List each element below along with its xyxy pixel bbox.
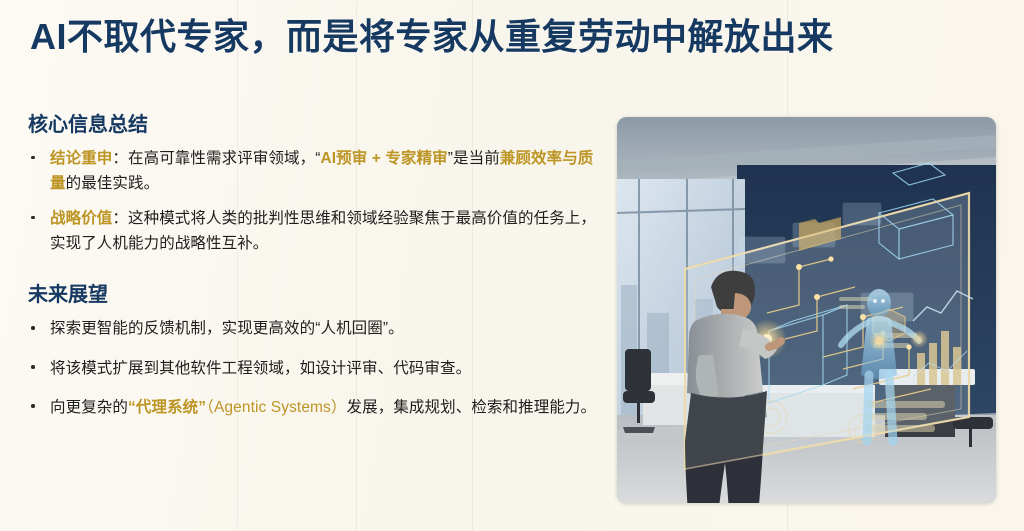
list-item: 将该模式扩展到其他软件工程领域，如设计评审、代码审查。 <box>28 356 598 381</box>
bullet-segment: （Agentic Systems） <box>206 399 346 416</box>
list-item: 向更复杂的“代理系统”（Agentic Systems）发展，集成规划、检索和推… <box>28 395 598 420</box>
illustration-graphic <box>617 117 996 503</box>
slide-title: AI不取代专家，而是将专家从重复劳动中解放出来 <box>30 14 990 60</box>
bullet-segment: AI预审 + 专家精审 <box>320 150 447 167</box>
bullet-dot-icon <box>31 365 35 369</box>
bullet-segment: ：在高可靠性需求评审领域，“ <box>112 150 320 167</box>
bullet-dot-icon <box>31 404 35 408</box>
bullet-segment: 的最佳实践。 <box>66 175 160 192</box>
illustration-ai-hologram-office <box>617 117 996 503</box>
bullet-segment: 发展，集成规划、检索和推理能力。 <box>347 399 597 416</box>
bullet-list: 探索更智能的反馈机制，实现更高效的“人机回圈”。 将该模式扩展到其他软件工程领域… <box>28 316 598 419</box>
bullet-segment: 结论重申 <box>50 150 112 167</box>
slide-canvas: AI不取代专家，而是将专家从重复劳动中解放出来 核心信息总结 结论重申：在高可靠… <box>0 0 1024 531</box>
section-heading: 核心信息总结 <box>28 112 598 138</box>
list-item: 探索更智能的反馈机制，实现更高效的“人机回圈”。 <box>28 316 598 341</box>
bullet-dot-icon <box>31 216 35 220</box>
section-heading: 未来展望 <box>28 282 598 308</box>
bullet-segment: ：这种模式将人类的批判性思维和领域经验聚焦于最高价值的任务上，实现了人机能力的战… <box>50 210 596 252</box>
list-item: 战略价值：这种模式将人类的批判性思维和领域经验聚焦于最高价值的任务上，实现了人机… <box>28 206 598 256</box>
bullet-segment: 战略价值 <box>50 210 112 227</box>
bullet-segment: “代理系统” <box>128 399 206 416</box>
bullet-dot-icon <box>31 326 35 330</box>
content-column: 核心信息总结 结论重申：在高可靠性需求评审领域，“AI预审 + 专家精审”是当前… <box>28 112 598 434</box>
bullet-segment: 将该模式扩展到其他软件工程领域，如设计评审、代码审查。 <box>50 360 471 377</box>
bullet-dot-icon <box>31 156 35 160</box>
bullet-segment: ”是当前 <box>448 150 500 167</box>
bullet-segment: 向更复杂的 <box>50 399 128 416</box>
bullet-list: 结论重申：在高可靠性需求评审领域，“AI预审 + 专家精审”是当前兼顾效率与质量… <box>28 146 598 256</box>
bullet-segment: 探索更智能的反馈机制，实现更高效的“人机回圈”。 <box>50 320 404 337</box>
list-item: 结论重申：在高可靠性需求评审领域，“AI预审 + 专家精审”是当前兼顾效率与质量… <box>28 146 598 196</box>
section-future-outlook: 未来展望 探索更智能的反馈机制，实现更高效的“人机回圈”。 将该模式扩展到其他软… <box>28 282 598 419</box>
section-core-summary: 核心信息总结 结论重申：在高可靠性需求评审领域，“AI预审 + 专家精审”是当前… <box>28 112 598 256</box>
